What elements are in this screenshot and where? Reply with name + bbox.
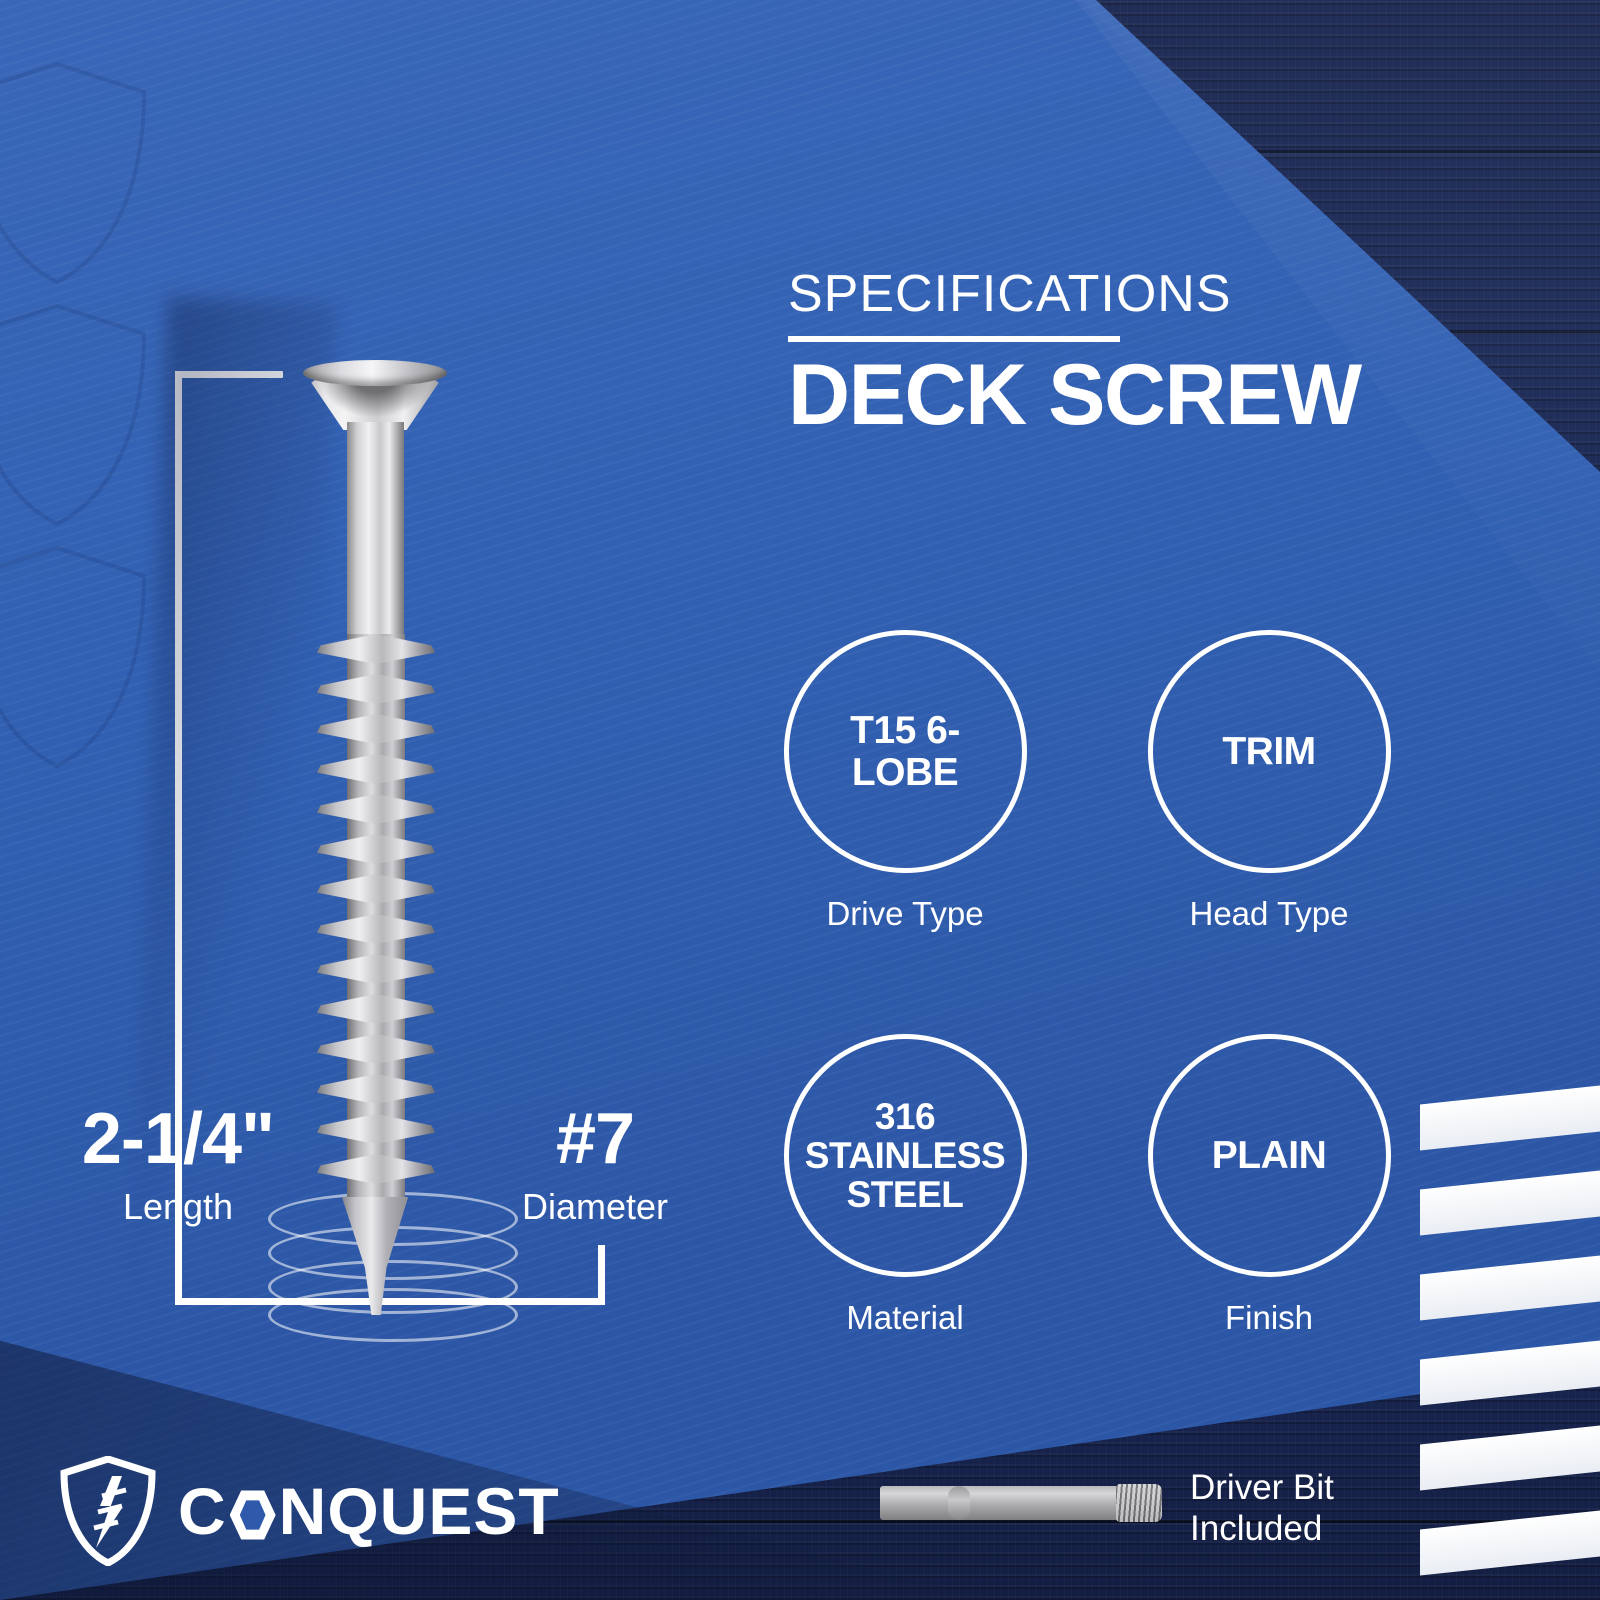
length-caption: Length	[58, 1187, 298, 1227]
driver-bit-label-line1: Driver Bit	[1190, 1468, 1400, 1509]
spec-value-material: 316 STAINLESS STEEL	[789, 1097, 1022, 1215]
length-dimension-label: 2-1/4" Length	[58, 1103, 298, 1227]
specifications-heading: SPECIFICATIONS DECK SCREW	[788, 268, 1408, 440]
driver-bit-notch	[948, 1486, 970, 1520]
spec-value-drive-type: T15 6-LOBE	[789, 710, 1022, 793]
shield-screw-logo-icon	[60, 1456, 156, 1566]
diameter-dimension-label: #7 Diameter	[470, 1103, 720, 1227]
heading-underline	[788, 336, 1120, 342]
brand-logo: C NQUEST	[60, 1452, 530, 1570]
screw-head-top	[303, 360, 447, 386]
spec-value-finish: PLAIN	[1202, 1135, 1337, 1176]
spec-circle-drive-type: T15 6-LOBE	[784, 630, 1027, 873]
specification-circle-grid: T15 6-LOBE Drive Type TRIM Head Type 316…	[770, 630, 1410, 1420]
spec-item-finish: PLAIN Finish	[1134, 1034, 1404, 1337]
brand-wordmark-part1: C	[178, 1478, 227, 1544]
brand-wordmark-part2: NQUEST	[279, 1478, 560, 1544]
diameter-bracket-right-tick	[598, 1245, 605, 1305]
screw-tip	[339, 1197, 411, 1315]
screw-shank	[347, 422, 404, 652]
spec-circle-material: 316 STAINLESS STEEL	[784, 1034, 1027, 1277]
spec-item-drive-type: T15 6-LOBE Drive Type	[770, 630, 1040, 933]
spec-item-head-type: TRIM Head Type	[1134, 630, 1404, 933]
spec-caption-head-type: Head Type	[1134, 895, 1404, 933]
spec-item-material: 316 STAINLESS STEEL Material	[770, 1034, 1040, 1337]
shield-watermark-icon	[0, 58, 152, 288]
driver-bit-section: Driver Bit Included	[880, 1468, 1400, 1546]
spec-caption-material: Material	[770, 1299, 1040, 1337]
spec-caption-finish: Finish	[1134, 1299, 1404, 1337]
diameter-bracket-left-tick	[175, 1245, 182, 1305]
spec-circle-finish: PLAIN	[1148, 1034, 1391, 1277]
brand-wordmark: C NQUEST	[178, 1478, 560, 1544]
page-title: DECK SCREW	[788, 350, 1408, 440]
infographic-canvas: 2-1/4" Length #7 Diameter SPECIFICATIONS…	[0, 0, 1600, 1600]
specifications-kicker: SPECIFICATIONS	[788, 268, 1408, 320]
diameter-value: #7	[470, 1103, 720, 1175]
driver-bit-label-line2: Included	[1190, 1509, 1400, 1550]
spec-value-head-type: TRIM	[1212, 731, 1325, 772]
length-value: 2-1/4"	[58, 1103, 298, 1175]
spec-caption-drive-type: Drive Type	[770, 895, 1040, 933]
diameter-caption: Diameter	[470, 1187, 720, 1227]
driver-bit-label: Driver Bit Included	[1190, 1468, 1400, 1549]
screw-threads	[317, 634, 435, 1204]
driver-bit-torx-tip	[1116, 1484, 1162, 1522]
hexagon-o-icon	[230, 1489, 276, 1541]
shield-watermark-icon	[0, 542, 152, 772]
spec-circle-head-type: TRIM	[1148, 630, 1391, 873]
shield-watermark-icon	[0, 300, 152, 530]
decorative-stripes	[1420, 1085, 1600, 1535]
